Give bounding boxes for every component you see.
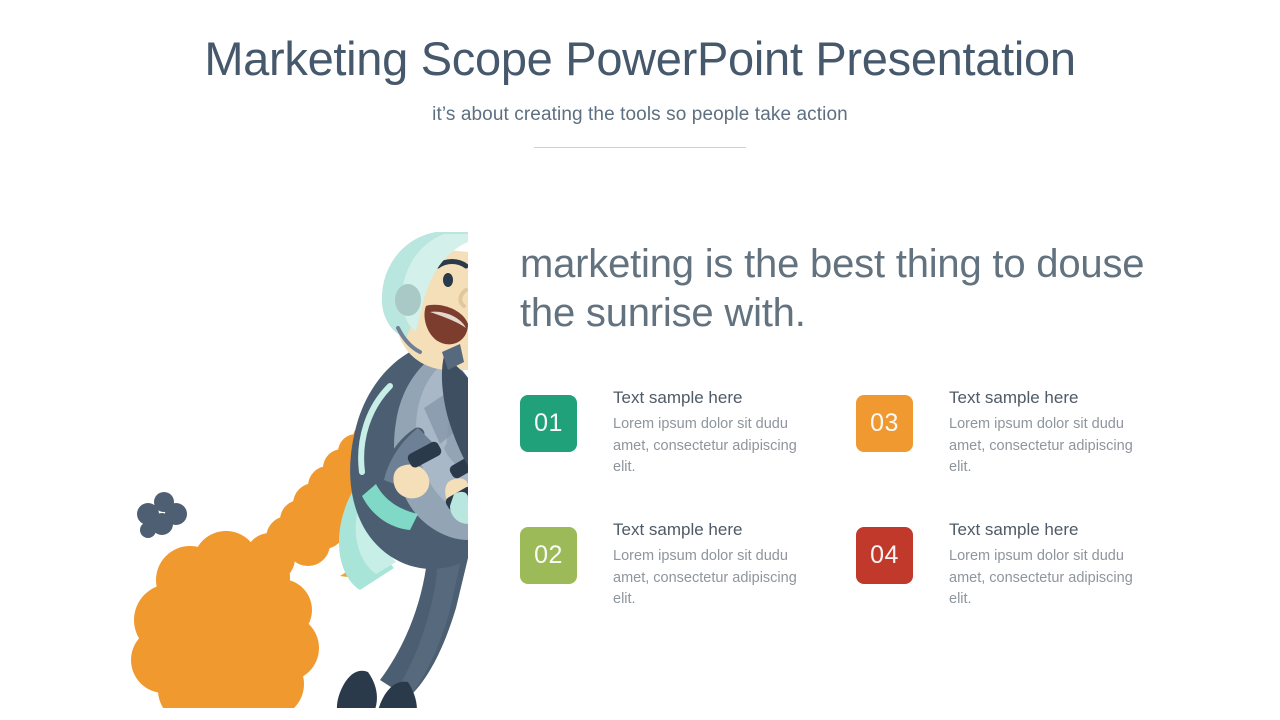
main-content: marketing is the best thing to douse the… <box>520 240 1200 338</box>
badge-03[interactable]: 03 <box>856 395 913 452</box>
badge-number-02: 02 <box>534 541 563 570</box>
jetpack-businessman-graphic <box>118 228 468 708</box>
page-title: Marketing Scope PowerPoint Presentation <box>0 34 1280 84</box>
feature-item-description-03: Lorem ipsum dolor sit dudu amet, consect… <box>949 414 1157 478</box>
feature-item-description-04: Lorem ipsum dolor sit dudu amet, consect… <box>949 546 1157 610</box>
feature-item-title-01: Text sample here <box>613 388 821 408</box>
feature-item-text-03: Text sample here Lorem ipsum dolor sit d… <box>949 385 1157 479</box>
slide: Marketing Scope PowerPoint Presentation … <box>0 0 1280 720</box>
feature-items-grid: 01 Text sample here Lorem ipsum dolor si… <box>520 385 1200 649</box>
badge-number-01: 01 <box>534 409 563 438</box>
header-divider <box>534 147 746 148</box>
feature-item-01[interactable]: 01 Text sample here Lorem ipsum dolor si… <box>520 385 856 517</box>
feature-item-description-01: Lorem ipsum dolor sit dudu amet, consect… <box>613 414 821 478</box>
feature-item-02[interactable]: 02 Text sample here Lorem ipsum dolor si… <box>520 517 856 649</box>
dark-smoke-puff-icon <box>137 492 187 538</box>
feature-item-text-02: Text sample here Lorem ipsum dolor sit d… <box>613 517 821 611</box>
badge-number-04: 04 <box>870 541 899 570</box>
feature-item-04[interactable]: 04 Text sample here Lorem ipsum dolor si… <box>856 517 1192 649</box>
feature-item-title-04: Text sample here <box>949 520 1157 540</box>
badge-number-03: 03 <box>870 409 899 438</box>
feature-item-03[interactable]: 03 Text sample here Lorem ipsum dolor si… <box>856 385 1192 517</box>
feature-item-text-01: Text sample here Lorem ipsum dolor sit d… <box>613 385 821 479</box>
feature-item-title-03: Text sample here <box>949 388 1157 408</box>
slide-header: Marketing Scope PowerPoint Presentation … <box>0 0 1280 148</box>
badge-02[interactable]: 02 <box>520 527 577 584</box>
main-headline: marketing is the best thing to douse the… <box>520 240 1160 338</box>
badge-01[interactable]: 01 <box>520 395 577 452</box>
feature-item-title-02: Text sample here <box>613 520 821 540</box>
badge-04[interactable]: 04 <box>856 527 913 584</box>
page-subtitle: it’s about creating the tools so people … <box>0 104 1280 126</box>
feature-item-text-04: Text sample here Lorem ipsum dolor sit d… <box>949 517 1157 611</box>
jetpack-businessman-illustration <box>118 228 468 708</box>
feature-item-description-02: Lorem ipsum dolor sit dudu amet, consect… <box>613 546 821 610</box>
